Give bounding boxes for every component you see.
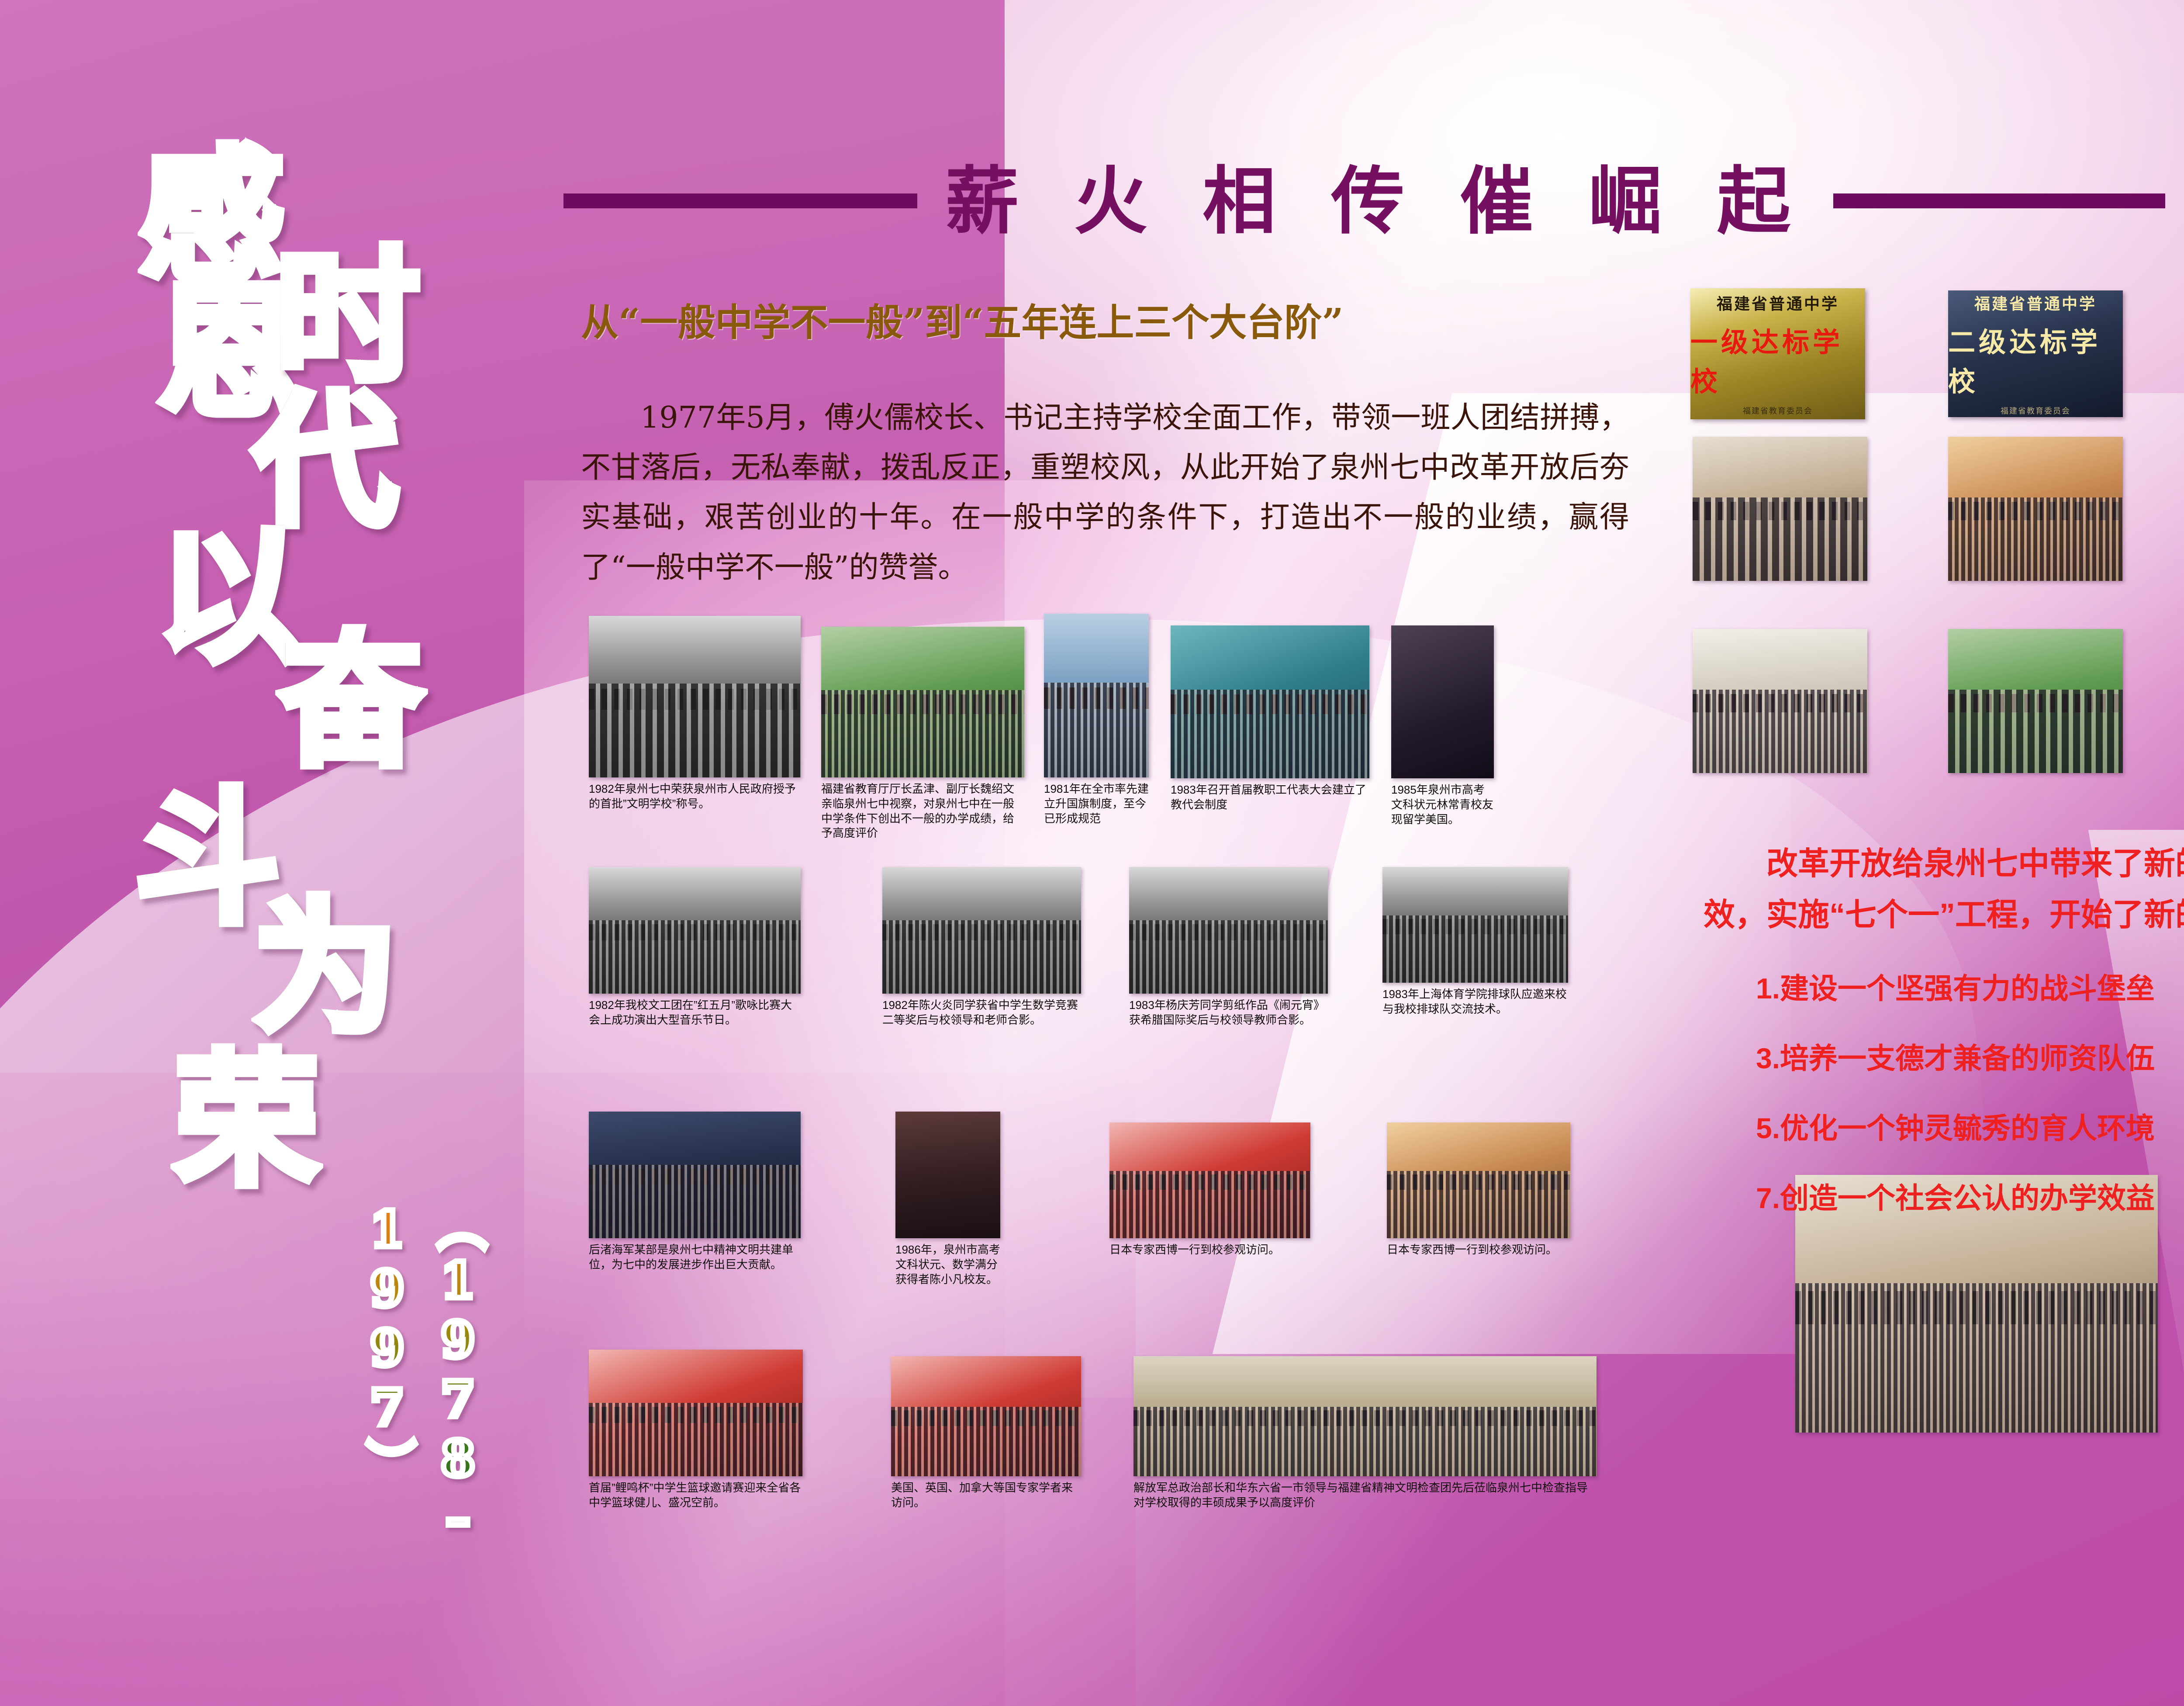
photo-r2c4-caption: 1983年上海体育学院排球队应邀来校与我校排球队交流技术。 — [1382, 987, 1568, 1017]
plaque-2-line3: 福建省教育委员会 — [2001, 405, 2070, 416]
section-body-text: 1977年5月，傅火儒校长、书记主持学校全面工作，带领一班人团结拼搏，不甘落后，… — [581, 393, 1629, 593]
banner-year-range: （1978–1997） — [352, 1201, 493, 1585]
plaque-1-line3: 福建省教育委员会 — [1743, 405, 1813, 416]
photo-r3c3: 日本专家西博一行到校参观访问。 — [1109, 1122, 1310, 1257]
photo-right-r2c2 — [1948, 629, 2123, 773]
photo-right-r1c2 — [1948, 437, 2123, 581]
seven-ones-list: 1.建设一个坚强有力的战斗堡垒 2.形成一个团结奋进的领导班子 3.培养一支德才… — [1756, 961, 2184, 1240]
photo-r2c4: 1983年上海体育学院排球队应邀来校与我校排球队交流技术。 — [1382, 867, 1568, 1017]
photo-r3c1-caption: 后渚海军某部是泉州七中精神文明共建单位，为七中的发展进步作出巨大贡献。 — [589, 1243, 801, 1272]
photo-r2c1: 1982年我校文工团在”红五月”歌咏比赛大会上成功演出大型音乐节日。 — [589, 867, 801, 1028]
plaque-level-1: 福建省普通中学 一级达标学校 福建省教育委员会 — [1690, 288, 1865, 419]
photo-right-r2c1 — [1693, 629, 1867, 773]
photo-r1c3-caption: 1981年在全市率先建立升国旗制度，至今已形成规范 — [1044, 782, 1149, 826]
photo-r4c1-caption: 首届”鲤鸣杯”中学生篮球邀请赛迎来全省各中学篮球健儿、盛况空前。 — [589, 1481, 803, 1510]
section-subtitle: 从“一般中学不一般”到“五年连上三个大台阶” — [581, 301, 1629, 345]
photo-right-r1c1 — [1693, 437, 1867, 581]
photo-r3c4: 日本专家西博一行到校参观访问。 — [1387, 1122, 1570, 1257]
photo-r1c2-caption: 福建省教育厅厅长孟津、副厅长魏绍文亲临泉州七中视察，对泉州七中在一般中学条件下创… — [821, 782, 1024, 841]
photo-r3c3-caption: 日本专家西博一行到校参观访问。 — [1109, 1243, 1310, 1257]
photo-r4c2: 美国、英国、加拿大等国专家学者来访问。 — [891, 1356, 1081, 1510]
list-row-1: 1.建设一个坚强有力的战斗堡垒 2.形成一个团结奋进的领导班子 — [1756, 961, 2184, 1031]
plaque-level-2: 福建省普通中学 二级达标学校 福建省教育委员会 — [1948, 290, 2123, 417]
photo-r3c1: 后渚海军某部是泉州七中精神文明共建单位，为七中的发展进步作出巨大贡献。 — [589, 1112, 801, 1272]
photo-r1c1-caption: 1982年泉州七中荣获泉州市人民政府授予的首批”文明学校”称号。 — [589, 782, 801, 812]
list-item-5: 5.优化一个钟灵毓秀的育人环境 — [1756, 1101, 2184, 1171]
banner-char-8: 为 — [253, 895, 397, 1039]
banner-char-3: 时 — [275, 245, 419, 389]
photo-r1c2: 福建省教育厅厅长孟津、副厅长魏绍文亲临泉州七中视察，对泉州七中在一般中学条件下创… — [821, 627, 1024, 841]
photo-r1c4: 1983年召开首届教职工代表大会建立了教代会制度 — [1171, 625, 1369, 812]
photo-r3c2-caption: 1986年，泉州市高考文科状元、数学满分获得者陈小凡校友。 — [895, 1243, 1000, 1287]
list-item-7: 7.创造一个社会公认的办学效益 — [1756, 1171, 2184, 1240]
plaque-1-line1: 福建省普通中学 — [1717, 291, 1839, 314]
photo-r4c1: 首届”鲤鸣杯”中学生篮球邀请赛迎来全省各中学篮球健儿、盛况空前。 — [589, 1350, 803, 1510]
list-row-2: 3.培养一支德才兼备的师资队伍 4.健全一套切实可行的管理制度 — [1756, 1031, 2184, 1101]
list-row-4: 7.创造一个社会公认的办学效益 — [1756, 1171, 2184, 1240]
header-rule-right — [1833, 193, 2165, 208]
header-rule-left — [563, 193, 917, 208]
photo-r1c1: 1982年泉州七中荣获泉州市人民政府授予的首批”文明学校”称号。 — [589, 616, 801, 812]
plaque-2-line2: 二级达标学校 — [1948, 320, 2123, 399]
red-paragraph: 改革开放给泉州七中带来了新的机遇，党政“一班人”从目标管理入手，重实践、求实效，… — [1704, 839, 2184, 940]
list-item-1: 1.建设一个坚强有力的战斗堡垒 — [1756, 961, 2184, 1031]
photo-r1c3: 1981年在全市率先建立升国旗制度，至今已形成规范 — [1044, 614, 1149, 826]
banner-char-6: 奋 — [280, 629, 424, 773]
photo-r2c3: 1983年杨庆芳同学剪纸作品《闹元宵》获希腊国际奖后与校领导教师合影。 — [1129, 867, 1328, 1028]
photo-r4c3-caption: 解放军总政治部长和华东六省一市领导与福建省精神文明检查团先后莅临泉州七中检查指导… — [1133, 1481, 1597, 1510]
photo-r4c3: 解放军总政治部长和华东六省一市领导与福建省精神文明检查团先后莅临泉州七中检查指导… — [1133, 1356, 1597, 1510]
photo-r3c2: 1986年，泉州市高考文科状元、数学满分获得者陈小凡校友。 — [895, 1112, 1000, 1287]
photo-r1c5-caption: 1985年泉州市高考文科状元林常青校友现留学美国。 — [1391, 783, 1494, 827]
list-item-3: 3.培养一支德才兼备的师资队伍 — [1756, 1031, 2184, 1101]
photo-r4c2-caption: 美国、英国、加拿大等国专家学者来访问。 — [891, 1481, 1081, 1510]
page-header: 薪 火 相 传 催 崛 起 — [563, 157, 2184, 245]
photo-r3c4-caption: 日本专家西博一行到校参观访问。 — [1387, 1243, 1570, 1257]
photo-r2c2-caption: 1982年陈火炎同学获省中学生数学竞赛二等奖后与校领导和老师合影。 — [882, 998, 1081, 1028]
photo-r2c1-caption: 1982年我校文工团在”红五月”歌咏比赛大会上成功演出大型音乐节日。 — [589, 998, 801, 1028]
photo-r2c2: 1982年陈火炎同学获省中学生数学竞赛二等奖后与校领导和老师合影。 — [882, 867, 1081, 1028]
photo-r1c5: 1985年泉州市高考文科状元林常青校友现留学美国。 — [1391, 625, 1494, 827]
photo-r1c4-caption: 1983年召开首届教职工代表大会建立了教代会制度 — [1171, 783, 1369, 812]
plaque-1-line2: 一级达标学校 — [1690, 320, 1865, 399]
banner-char-9: 荣 — [175, 1048, 319, 1192]
list-row-3: 5.优化一个钟灵毓秀的育人环境 6.完善一个勤工俭学的劳育基地 — [1756, 1101, 2184, 1171]
plaque-2-line1: 福建省普通中学 — [1974, 291, 2097, 314]
left-vertical-banner: 感 恩 时 代 以 奋 斗 为 荣 （1978–1997） — [109, 144, 502, 1585]
page-title: 薪 火 相 传 催 崛 起 — [945, 164, 1805, 238]
photo-r2c3-caption: 1983年杨庆芳同学剪纸作品《闹元宵》获希腊国际奖后与校领导教师合影。 — [1129, 998, 1328, 1028]
